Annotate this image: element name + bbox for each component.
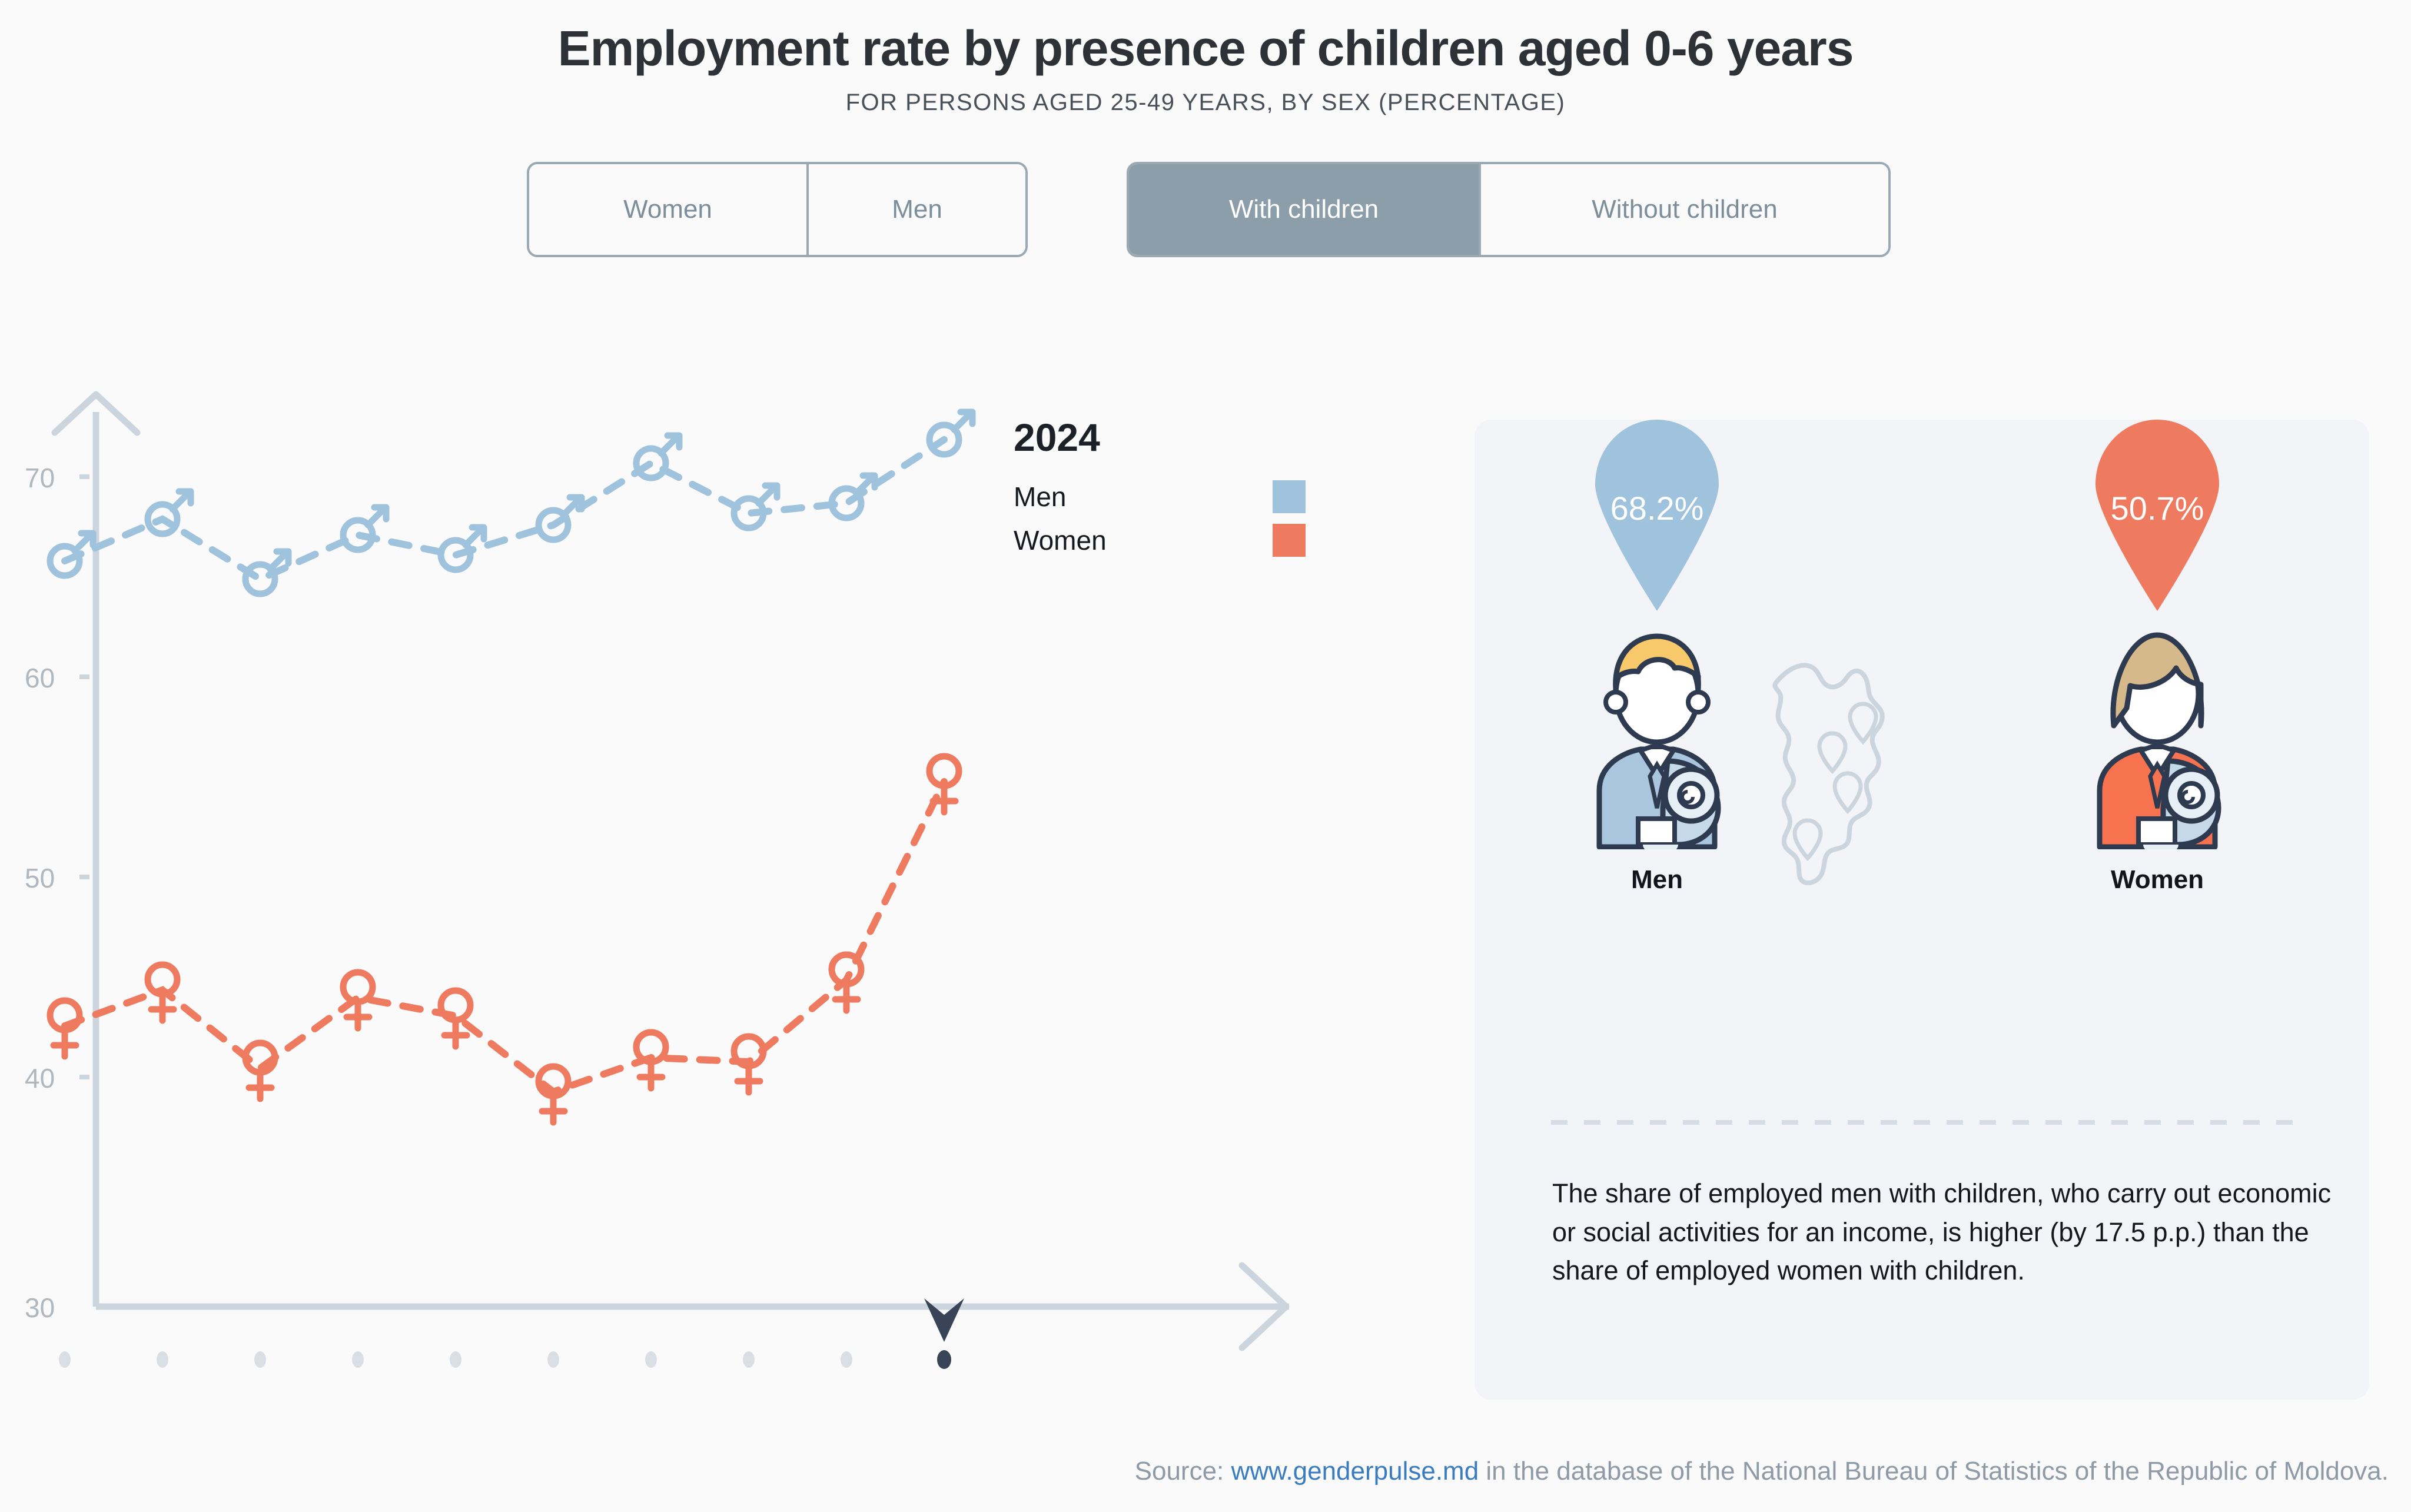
toggle-without-children[interactable]: Without children [1479, 164, 1888, 255]
legend-label-women: Women [1014, 524, 1273, 556]
woman-with-baby-icon [2075, 614, 2240, 849]
x-axis-dots [59, 1350, 951, 1369]
controls-row: Women Men With children Without children [0, 162, 2411, 257]
source-suffix: in the database of the National Bureau o… [1479, 1457, 2389, 1486]
sex-toggle-group[interactable]: Women Men [527, 162, 1028, 257]
figures-row: 68.2% [1475, 420, 2369, 1044]
y-tick-30: 30 [25, 1292, 55, 1323]
summary-card: 68.2% [1475, 420, 2369, 1400]
man-with-baby-icon [1575, 614, 1739, 849]
legend-item-women[interactable]: Women [1014, 519, 1306, 562]
source-prefix: Source: [1135, 1457, 1231, 1486]
legend-year: 2024 [1014, 415, 1306, 460]
moldova-map-icon [1763, 629, 1898, 905]
legend-swatch-men [1273, 480, 1306, 513]
toggle-women[interactable]: Women [529, 164, 806, 255]
moldova-map-outline [1763, 629, 1898, 908]
legend-swatch-women [1273, 524, 1306, 557]
legend-item-men[interactable]: Men [1014, 475, 1306, 519]
toggle-with-children[interactable]: With children [1129, 164, 1479, 255]
series-markers-women [50, 756, 959, 1122]
series-line-men [65, 440, 944, 579]
legend-label-men: Men [1014, 481, 1273, 513]
y-tick-40: 40 [25, 1063, 55, 1094]
source-link[interactable]: www.genderpulse.md [1231, 1457, 1479, 1486]
value-women: 50.7% [2087, 489, 2228, 527]
y-tick-50: 50 [25, 863, 55, 893]
y-tick-60: 60 [25, 663, 55, 693]
pin-women: 50.7% [2087, 420, 2228, 614]
page-header: Employment rate by presence of children … [0, 0, 2411, 116]
series-line-women [65, 782, 944, 1092]
x-axis [96, 1265, 1289, 1348]
y-tick-labels: 70 60 50 40 30 [25, 463, 89, 1323]
figure-label-men: Men [1522, 865, 1792, 895]
y-axis [55, 394, 137, 1307]
toggle-men[interactable]: Men [806, 164, 1025, 255]
series-markers-men [50, 412, 972, 594]
value-men: 68.2% [1586, 489, 1728, 527]
figure-label-women: Women [2022, 865, 2293, 895]
card-divider [1551, 1120, 2296, 1125]
children-toggle-group[interactable]: With children Without children [1127, 162, 1891, 257]
card-note: The share of employed men with children,… [1552, 1174, 2341, 1290]
page-title: Employment rate by presence of children … [0, 22, 2411, 74]
chart-legend: 2024 Men Women [1014, 415, 1306, 562]
pin-men: 68.2% [1586, 420, 1728, 614]
figure-women: 50.7% Women [2022, 420, 2293, 895]
y-tick-70: 70 [25, 463, 55, 493]
source-footer: Source: www.genderpulse.md in the databa… [1135, 1457, 2389, 1486]
figure-men: 68.2% [1522, 420, 1792, 895]
page-subtitle: FOR PERSONS AGED 25-49 YEARS, BY SEX (PE… [0, 89, 2411, 116]
